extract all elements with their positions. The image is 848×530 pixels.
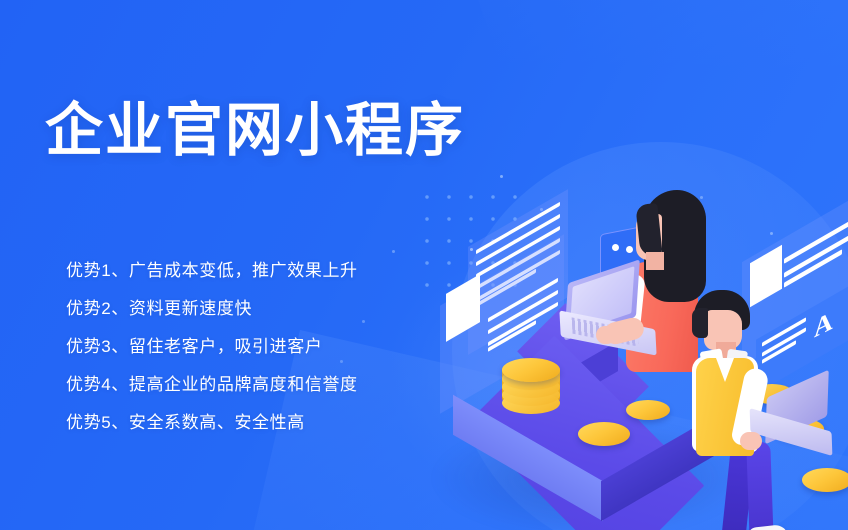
- list-item: 优势1、广告成本变低，推广效果上升: [66, 252, 436, 290]
- chat-dot-icon: [612, 244, 619, 251]
- list-item: 优势4、提高企业的品牌高度和信誉度: [66, 366, 436, 404]
- woman-neck: [646, 252, 664, 270]
- list-item: 优势2、资料更新速度快: [66, 290, 436, 328]
- woman-hand: [596, 326, 616, 344]
- coin-stack-top: [502, 358, 560, 382]
- coin: [802, 468, 848, 492]
- man-hand: [740, 432, 762, 450]
- coin: [626, 400, 670, 420]
- advantage-list: 优势1、广告成本变低，推广效果上升 优势2、资料更新速度快 优势3、留住老客户，…: [66, 252, 436, 442]
- banner-image: 企业官网小程序 优势1、广告成本变低，推广效果上升 优势2、资料更新速度快 优势…: [0, 0, 848, 530]
- coin: [578, 422, 630, 446]
- page-title: 企业官网小程序: [45, 100, 465, 163]
- list-item: 优势5、安全系数高、安全性高: [66, 404, 436, 442]
- man-hair-side: [692, 308, 708, 338]
- chat-dot-icon: [626, 246, 633, 253]
- illustration: A: [420, 170, 848, 530]
- list-item: 优势3、留住老客户，吸引进客户: [66, 328, 436, 366]
